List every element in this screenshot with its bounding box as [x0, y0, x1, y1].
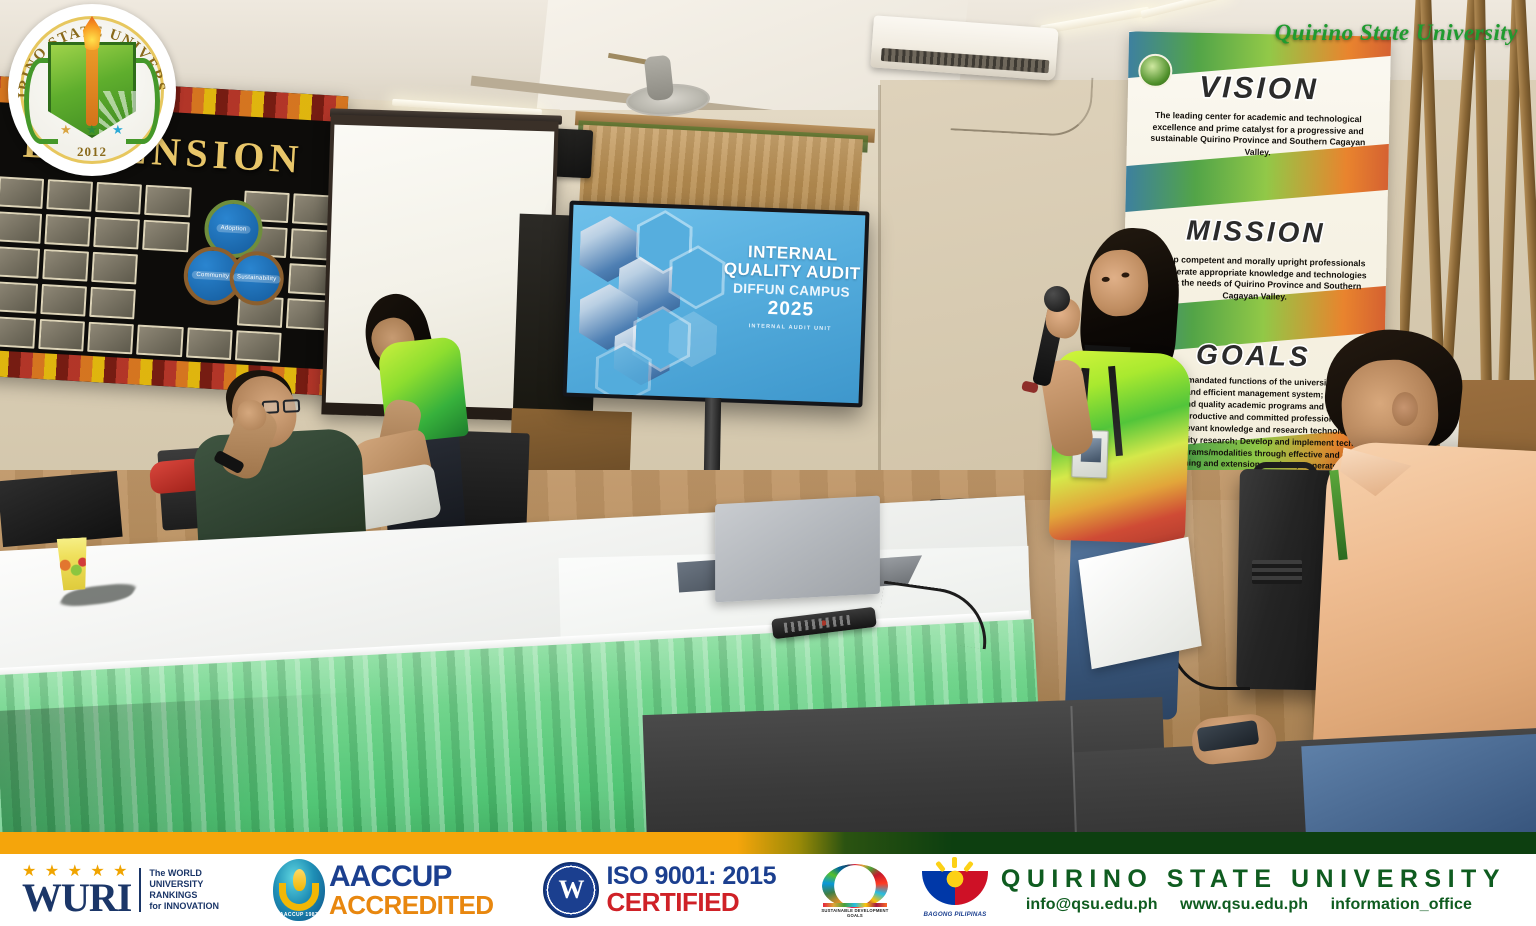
board-photo	[40, 284, 87, 317]
footer-contact-line: info@qsu.edu.ph www.qsu.edu.ph informati…	[1001, 896, 1506, 914]
sdg-caption: SUSTAINABLE DEVELOPMENT GOALS	[818, 903, 892, 918]
iso-line-2: CERTIFIED	[606, 889, 776, 916]
iso-text: ISO 9001: 2015 CERTIFIED	[606, 864, 776, 916]
board-photo	[94, 217, 141, 250]
footer-email[interactable]: info@qsu.edu.ph	[1026, 896, 1158, 913]
board-photo	[44, 214, 91, 247]
board-photo	[87, 322, 134, 355]
seal-year: 2012	[8, 144, 176, 160]
ac-wire	[951, 70, 1094, 137]
qsu-seal-logo: QUIRINO STATE UNIVERSITY ★ ★ ★ 2012	[8, 4, 176, 176]
wuri-tagline: The WORLD UNIVERSITY RANKINGS for INNOVA…	[149, 868, 219, 912]
board-circles: Adoption Community Sustainability	[181, 197, 308, 324]
board-photo	[0, 246, 40, 279]
board-photo	[137, 325, 184, 358]
wuri-tagline-line4: for INNOVATION	[149, 901, 219, 912]
board-photo	[0, 211, 42, 244]
board-photo	[38, 319, 85, 352]
board-photo	[0, 176, 44, 209]
board-photo	[42, 249, 89, 282]
ac-vent	[881, 48, 1050, 73]
iso-mark-letter: W	[558, 875, 584, 905]
watermark-text: Quirino State University	[1275, 20, 1518, 46]
fan-motor	[644, 55, 674, 101]
event-photo: EXTENSION Adoption Community	[0, 0, 1536, 848]
board-photo	[145, 185, 192, 218]
vision-heading: VISION	[1128, 69, 1391, 108]
board-photo	[0, 281, 38, 314]
person-right-ear	[1392, 392, 1418, 426]
microphone-head	[1044, 286, 1070, 312]
wuri-wordmark: WURI	[22, 880, 131, 916]
board-circle-sustainability: Sustainability	[228, 250, 285, 307]
iso-line-1: ISO 9001: 2015	[606, 864, 776, 890]
wuri-tagline-line1: The WORLD	[149, 868, 219, 879]
tv-line-4: 2025	[717, 296, 864, 323]
board-photo	[92, 252, 139, 285]
presentation-tv: INTERNAL QUALITY AUDIT DIFFUN CAMPUS 202…	[563, 201, 870, 408]
footer-university-name: QUIRINO STATE UNIVERSITY	[1001, 866, 1506, 894]
wuri-logo: ★ ★ ★ ★ ★ WURI The WORLD UNIVERSITY RANK…	[22, 864, 219, 916]
screenshot-root: EXTENSION Adoption Community	[0, 0, 1536, 926]
vision-body: The leading center for academic and tech…	[1143, 110, 1374, 161]
board-photo	[0, 316, 36, 349]
aaccup-line-2: ACCREDITED	[329, 892, 493, 918]
sdg-logo: SUSTAINABLE DEVELOPMENT GOALS	[818, 860, 892, 920]
brand-color-band	[0, 832, 1536, 854]
iso-certification-logo: W ISO 9001: 2015 CERTIFIED	[543, 862, 776, 918]
aaccup-emblem-icon: AACCUP 1987	[273, 859, 325, 921]
aaccup-text: AACCUP ACCREDITED	[329, 862, 493, 918]
bagong-pilipinas-logo: BAGONG PILIPINAS	[916, 859, 994, 921]
board-photo	[90, 287, 137, 320]
page-footer: ★ ★ ★ ★ ★ WURI The WORLD UNIVERSITY RANK…	[0, 854, 1536, 926]
tv-title-block: INTERNAL QUALITY AUDIT DIFFUN CAMPUS 202…	[717, 242, 865, 333]
sdg-color-wheel-icon	[822, 864, 888, 908]
bp-caption: BAGONG PILIPINAS	[916, 911, 994, 918]
bp-sun-icon	[943, 867, 967, 891]
footer-website[interactable]: www.qsu.edu.ph	[1180, 896, 1308, 913]
tv-screen: INTERNAL QUALITY AUDIT DIFFUN CAMPUS 202…	[567, 205, 866, 404]
wuri-tagline-line2: UNIVERSITY	[149, 879, 219, 890]
table-shadow	[0, 689, 424, 848]
aaccup-line-1: AACCUP	[329, 862, 493, 892]
equipment-box	[0, 471, 123, 547]
footer-contact-block: QUIRINO STATE UNIVERSITY info@qsu.edu.ph…	[1001, 866, 1506, 914]
board-photo	[46, 179, 93, 212]
tv-line-5: INTERNAL AUDIT UNIT	[717, 322, 863, 333]
wuri-divider	[139, 868, 141, 912]
board-photo	[186, 327, 233, 360]
footer-social-handle[interactable]: information_office	[1331, 896, 1472, 913]
seal-star-icon: ★	[60, 122, 72, 138]
aaccup-hands-icon	[279, 883, 319, 911]
aaccup-year: AACCUP 1987	[273, 912, 325, 918]
aaccup-logo: AACCUP 1987 AACCUP ACCREDITED	[273, 859, 493, 921]
wuri-tagline-line3: RANKINGS	[149, 890, 219, 901]
seal-star-icon: ★	[86, 122, 98, 138]
iso-emblem-icon: W	[543, 862, 599, 918]
speaker-grill	[1252, 560, 1302, 584]
tv-hexagon-photo-cluster	[569, 211, 707, 394]
person-right-legs	[1301, 734, 1536, 848]
board-photo	[143, 220, 190, 253]
cup-pattern	[59, 555, 86, 578]
board-photo	[235, 330, 282, 363]
seal-star-icon: ★	[112, 122, 124, 138]
handout-paper	[1078, 537, 1201, 670]
laptop	[715, 496, 880, 603]
board-photo	[96, 182, 143, 215]
